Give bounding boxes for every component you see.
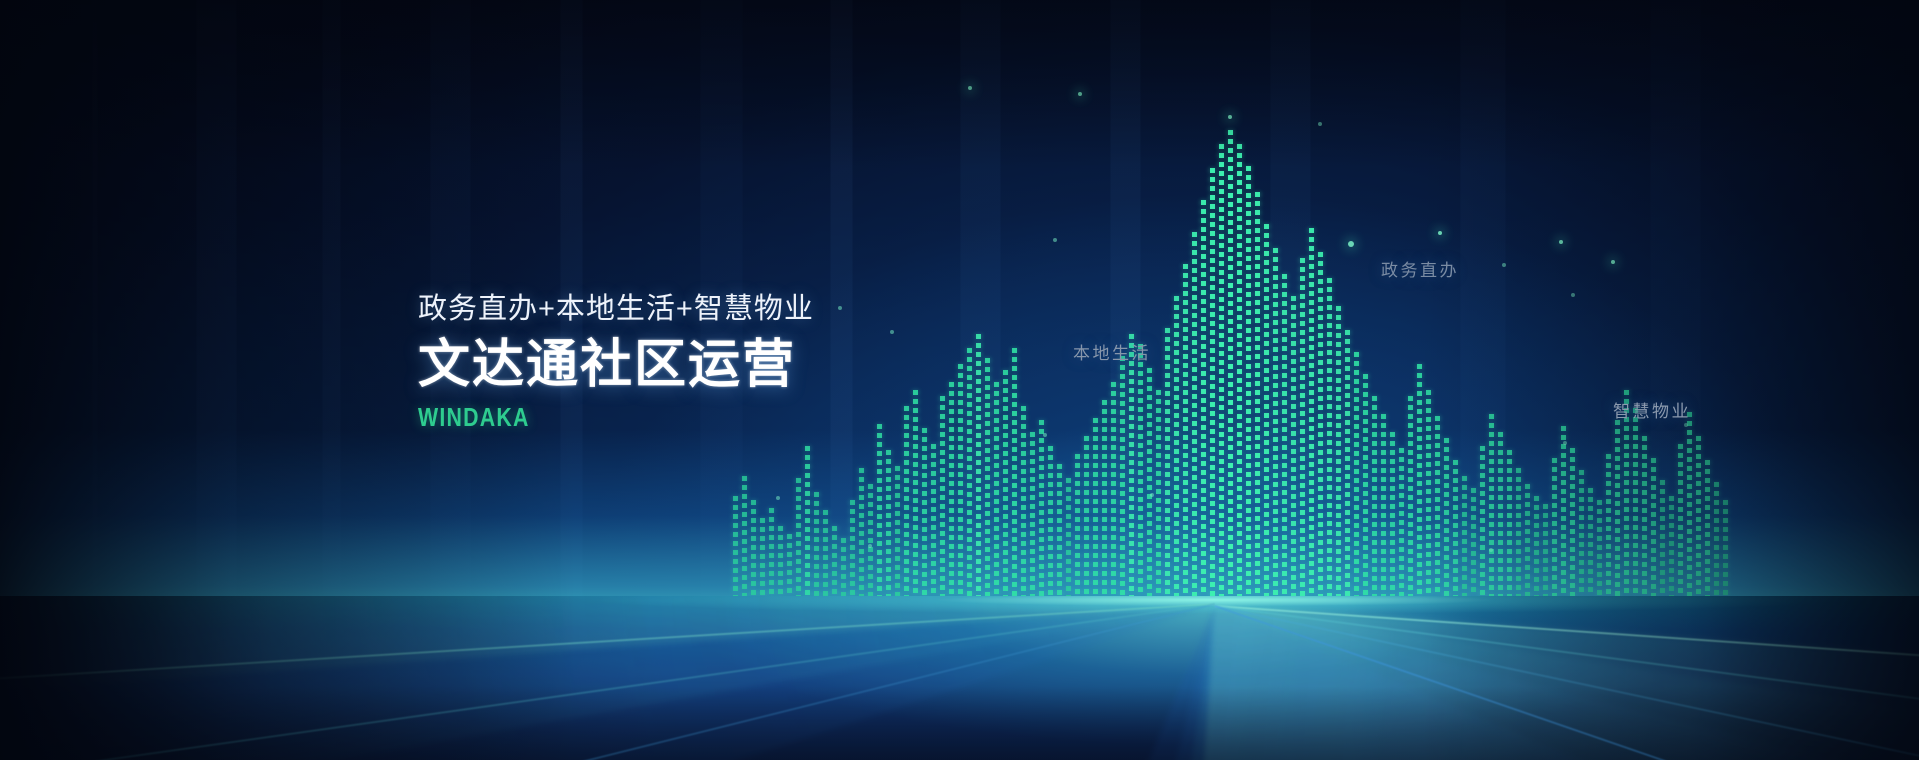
brand-wordmark: WINDAKA — [418, 402, 743, 433]
sparkle-dot — [1611, 260, 1615, 264]
sparkle-dot — [1043, 433, 1047, 437]
skyline-bar — [1075, 454, 1080, 596]
sparkle-dot — [1078, 92, 1082, 96]
skyline-bar — [1201, 200, 1206, 596]
skyline-bar — [1534, 496, 1539, 596]
skyline-bar — [913, 390, 918, 596]
skyline-bar — [1399, 448, 1404, 596]
skyline-bar — [1345, 330, 1350, 596]
skyline-bar — [868, 484, 873, 596]
skyline-bar — [832, 526, 837, 596]
skyline-bar — [1579, 470, 1584, 596]
skyline-label-local-life: 本地生活 — [1073, 339, 1151, 364]
skyline-bar — [1714, 482, 1719, 596]
skyline-bar — [976, 334, 981, 596]
skyline-bar — [1165, 328, 1170, 596]
skyline-bar — [787, 534, 792, 596]
skyline-bar — [1363, 374, 1368, 596]
skyline-bar — [994, 382, 999, 596]
skyline-bar — [1210, 168, 1215, 596]
skyline-bar — [949, 382, 954, 596]
skyline-bar — [1507, 450, 1512, 596]
skyline-bar — [1327, 278, 1332, 596]
skyline-bar — [850, 500, 855, 596]
skyline-bar — [1030, 432, 1035, 596]
sparkle-dot — [1150, 493, 1154, 497]
sparkle-dot — [1502, 263, 1506, 267]
skyline-bar — [760, 518, 765, 596]
skyline-bar — [967, 348, 972, 596]
skyline-bar — [1723, 500, 1728, 596]
skyline-bar — [1048, 446, 1053, 596]
sparkle-dot — [1684, 423, 1688, 427]
skyline-bar — [796, 478, 801, 596]
skyline-bar — [1174, 296, 1179, 596]
skyline-bar — [1309, 228, 1314, 596]
skyline-bar — [805, 446, 810, 596]
sparkle-dot — [890, 330, 894, 334]
skyline-bar — [1606, 454, 1611, 596]
skyline-bar — [733, 496, 738, 596]
skyline-bar — [1129, 334, 1134, 596]
skyline-bar — [1102, 400, 1107, 596]
dot-matrix-skyline-chart — [0, 0, 1919, 620]
skyline-bar — [1111, 382, 1116, 596]
skyline-bar — [985, 358, 990, 596]
skyline-bar — [1381, 414, 1386, 596]
skyline-bar — [1543, 504, 1548, 596]
hero-subtitle: 政务直办+本地生活+智慧物业 — [418, 292, 814, 326]
skyline-bar — [1183, 264, 1188, 596]
skyline-bar — [958, 364, 963, 596]
skyline-bar — [1570, 448, 1575, 596]
skyline-bar — [1147, 368, 1152, 596]
skyline-bar — [904, 406, 909, 596]
skyline-bar — [1003, 370, 1008, 596]
skyline-bar — [1291, 296, 1296, 596]
skyline-bar — [1462, 476, 1467, 596]
skyline-bar — [931, 444, 936, 596]
skyline-bar — [895, 466, 900, 596]
sparkle-dot — [838, 306, 842, 310]
skyline-bar — [1588, 488, 1593, 596]
perspective-ground-plane — [0, 596, 1919, 760]
skyline-bar — [1444, 438, 1449, 596]
skyline-bar — [1372, 396, 1377, 596]
sparkle-dot — [776, 496, 780, 500]
skyline-bar — [1228, 130, 1233, 596]
skyline-bar — [1597, 500, 1602, 596]
horizon-glow — [0, 596, 1919, 616]
skyline-bar — [1021, 406, 1026, 596]
skyline-label-smart-property: 智慧物业 — [1613, 397, 1691, 422]
skyline-bar — [1264, 224, 1269, 596]
sparkle-dot — [1571, 293, 1575, 297]
sparkle-dot — [1348, 241, 1354, 247]
skyline-bar — [1426, 390, 1431, 596]
skyline-bar — [1408, 396, 1413, 596]
skyline-bar — [922, 428, 927, 596]
skyline-bar — [877, 424, 882, 596]
skyline-bar — [1651, 458, 1656, 596]
sparkle-dot — [1559, 240, 1563, 244]
hero-copy-block: 政务直办+本地生活+智慧物业 文达通社区运营 WINDAKA — [418, 292, 814, 433]
skyline-bar — [814, 492, 819, 596]
skyline-bar — [1435, 416, 1440, 596]
skyline-bar — [1156, 390, 1161, 596]
skyline-bar — [1282, 274, 1287, 596]
hero-banner: 政务直办+本地生活+智慧物业 文达通社区运营 WINDAKA 本地生活 政务直办… — [0, 0, 1919, 760]
skyline-bar — [1705, 460, 1710, 596]
skyline-bar — [1480, 446, 1485, 596]
skyline-bar — [940, 396, 945, 596]
skyline-bar — [1039, 420, 1044, 596]
sparkle-dot — [968, 86, 972, 90]
skyline-bar — [1336, 306, 1341, 596]
skyline-bar — [886, 450, 891, 596]
sparkle-dot — [868, 544, 872, 548]
skyline-bar — [1057, 464, 1062, 596]
skyline-bar — [1138, 344, 1143, 596]
skyline-bar — [1012, 348, 1017, 596]
skyline-bar — [751, 500, 756, 596]
skyline-bar — [1093, 418, 1098, 596]
skyline-bar — [1192, 232, 1197, 596]
skyline-bar — [742, 476, 747, 596]
skyline-bar — [1390, 432, 1395, 596]
skyline-bar — [769, 508, 774, 596]
skyline-bar — [1615, 420, 1620, 596]
sparkle-dot — [1228, 115, 1232, 119]
skyline-bar — [1696, 436, 1701, 596]
skyline-label-gov-service: 政务直办 — [1381, 256, 1459, 281]
skyline-bar — [1498, 432, 1503, 596]
skyline-bar — [1237, 144, 1242, 596]
skyline-bar — [1633, 408, 1638, 596]
skyline-bar — [1246, 166, 1251, 596]
skyline-bar — [1453, 460, 1458, 596]
skyline-bar — [1300, 258, 1305, 596]
skyline-bar — [823, 510, 828, 596]
sparkle-dot — [1318, 122, 1322, 126]
sparkle-dot — [1563, 441, 1567, 445]
skyline-bar — [1678, 444, 1683, 596]
hero-headline: 文达通社区运营 — [418, 336, 814, 394]
skyline-bar — [1273, 248, 1278, 596]
skyline-bar — [1552, 458, 1557, 596]
skyline-bar — [1219, 144, 1224, 596]
skyline-bar — [859, 468, 864, 596]
skyline-bar — [1471, 488, 1476, 596]
sparkle-dot — [1438, 231, 1442, 235]
skyline-bar — [841, 538, 846, 596]
skyline-bar — [1642, 436, 1647, 596]
skyline-bar — [1318, 252, 1323, 596]
sparkle-dot — [1489, 548, 1493, 552]
skyline-bar — [1255, 192, 1260, 596]
sparkle-dot — [1053, 238, 1057, 242]
skyline-bar — [1084, 436, 1089, 596]
skyline-bar — [1660, 480, 1665, 596]
skyline-bar — [778, 526, 783, 596]
skyline-bar — [1354, 352, 1359, 596]
skyline-bar — [1066, 478, 1071, 596]
skyline-bar — [1489, 414, 1494, 596]
skyline-bar — [1525, 484, 1530, 596]
skyline-bar — [1516, 468, 1521, 596]
skyline-bar — [1687, 412, 1692, 596]
skyline-bar — [1120, 356, 1125, 596]
skyline-bar — [1417, 364, 1422, 596]
skyline-bar — [1669, 496, 1674, 596]
skyline-bar — [1561, 426, 1566, 596]
